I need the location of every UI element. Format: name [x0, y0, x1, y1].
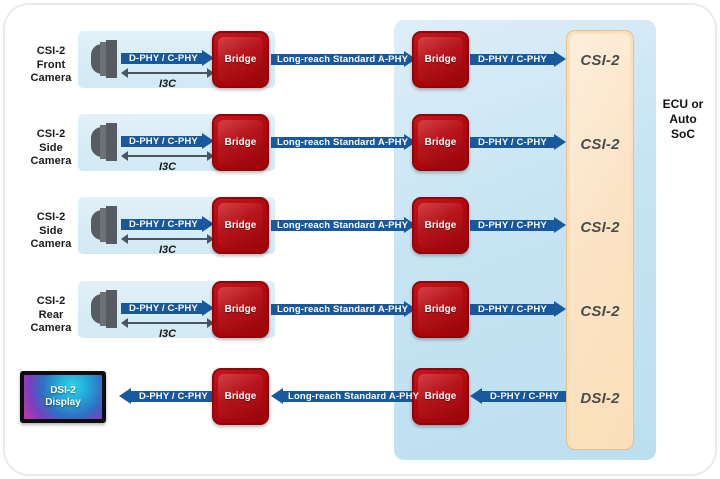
bridge-near-1[interactable]: Bridge: [212, 31, 269, 88]
soc-port-2: CSI-2: [566, 136, 634, 153]
link-soc-1-label: D-PHY / C-PHY: [478, 54, 547, 65]
bridge-far-3[interactable]: Bridge: [412, 197, 469, 254]
camera-icon-4: [91, 290, 117, 328]
link-soc-2-label: D-PHY / C-PHY: [478, 137, 547, 148]
link-aphy-3-label: Long-reach Standard A-PHY: [277, 220, 408, 231]
display-label-line1: DSI-2: [50, 385, 76, 396]
bridge-near-1-label: Bridge: [225, 54, 257, 65]
camera-icon-2: [91, 123, 117, 161]
soc-port-3: CSI-2: [566, 219, 634, 236]
camera-body-shape: [106, 123, 117, 161]
link-soc-1: D-PHY / C-PHY: [470, 51, 566, 68]
soc-interface-column-inner: [570, 34, 630, 446]
link-dphy-cphy-4-label: D-PHY / C-PHY: [129, 303, 198, 314]
bridge-far-1-label: Bridge: [425, 54, 457, 65]
ecu-label-line1: ECU or: [650, 97, 716, 112]
camera-label-1-line1: CSI-2: [18, 45, 84, 59]
soc-interface-column: [566, 30, 634, 450]
camera-label-1-line3: Camera: [18, 72, 84, 86]
camera-label-4-line3: Camera: [18, 322, 84, 336]
camera-label-4-line2: Rear: [18, 309, 84, 323]
link-dphy-cphy-1-label: D-PHY / C-PHY: [129, 53, 198, 64]
camera-label-1-line2: Front: [18, 59, 84, 73]
camera-label-3-line3: Camera: [18, 238, 84, 252]
bridge-far-2[interactable]: Bridge: [412, 114, 469, 171]
camera-icon-1: [91, 40, 117, 78]
link-dphy-cphy-2: D-PHY / C-PHY: [121, 133, 214, 150]
link-aphy-2-label: Long-reach Standard A-PHY: [277, 137, 408, 148]
camera-label-2-line2: Side: [18, 142, 84, 156]
camera-label-2: CSI-2 Side Camera: [18, 128, 84, 169]
bridge-near-2[interactable]: Bridge: [212, 114, 269, 171]
camera-label-1: CSI-2 Front Camera: [18, 45, 84, 86]
bridge-near-3-label: Bridge: [225, 220, 257, 231]
link-aphy-4: Long-reach Standard A-PHY: [271, 301, 416, 318]
display-icon: DSI-2Display: [20, 371, 106, 423]
camera-label-2-line1: CSI-2: [18, 128, 84, 142]
link-dphy-cphy-display-label: D-PHY / C-PHY: [139, 391, 208, 402]
camera-label-3: CSI-2 Side Camera: [18, 211, 84, 252]
ecu-auto-soc-label: ECU or Auto SoC: [650, 97, 716, 142]
camera-body-shape: [106, 290, 117, 328]
link-soc-2: D-PHY / C-PHY: [470, 134, 566, 151]
diagram-canvas: CSI-2 Front Camera D-PHY / C-PHY I3C Bri…: [0, 0, 720, 479]
bridge-far-2-label: Bridge: [425, 137, 457, 148]
ecu-label-line2: Auto: [650, 112, 716, 127]
bridge-far-4-label: Bridge: [425, 304, 457, 315]
display-label-line2: Display: [45, 397, 81, 408]
link-i3c-4-label: I3C: [121, 328, 214, 340]
link-soc-3-label: D-PHY / C-PHY: [478, 220, 547, 231]
camera-label-3-line1: CSI-2: [18, 211, 84, 225]
link-soc-3: D-PHY / C-PHY: [470, 217, 566, 234]
link-aphy-1: Long-reach Standard A-PHY: [271, 51, 416, 68]
link-aphy-1-label: Long-reach Standard A-PHY: [277, 54, 408, 65]
link-i3c-3-label: I3C: [121, 244, 214, 256]
bridge-near-display[interactable]: Bridge: [212, 368, 269, 425]
link-aphy-3: Long-reach Standard A-PHY: [271, 217, 416, 234]
bridge-near-display-label: Bridge: [225, 391, 257, 402]
camera-label-2-line3: Camera: [18, 155, 84, 169]
link-aphy-4-label: Long-reach Standard A-PHY: [277, 304, 408, 315]
bridge-near-3[interactable]: Bridge: [212, 197, 269, 254]
bridge-far-display-label: Bridge: [425, 391, 457, 402]
link-dphy-cphy-3-label: D-PHY / C-PHY: [129, 219, 198, 230]
bridge-far-3-label: Bridge: [425, 220, 457, 231]
soc-port-5: DSI-2: [566, 390, 634, 407]
link-i3c-1-label: I3C: [121, 78, 214, 90]
camera-icon-3: [91, 206, 117, 244]
camera-label-3-line2: Side: [18, 225, 84, 239]
camera-label-4: CSI-2 Rear Camera: [18, 295, 84, 336]
bridge-far-1[interactable]: Bridge: [412, 31, 469, 88]
bridge-far-display[interactable]: Bridge: [412, 368, 469, 425]
link-soc-display: D-PHY / C-PHY: [470, 388, 566, 405]
link-i3c-2-label: I3C: [121, 161, 214, 173]
display-screen: DSI-2Display: [24, 375, 102, 419]
link-soc-display-label: D-PHY / C-PHY: [490, 391, 559, 402]
link-dphy-cphy-2-label: D-PHY / C-PHY: [129, 136, 198, 147]
link-dphy-cphy-3: D-PHY / C-PHY: [121, 216, 214, 233]
bridge-far-4[interactable]: Bridge: [412, 281, 469, 338]
link-dphy-cphy-1: D-PHY / C-PHY: [121, 50, 214, 67]
link-dphy-cphy-4: D-PHY / C-PHY: [121, 300, 214, 317]
ecu-label-line3: SoC: [650, 127, 716, 142]
link-aphy-display-label: Long-reach Standard A-PHY: [288, 391, 419, 402]
link-aphy-2: Long-reach Standard A-PHY: [271, 134, 416, 151]
camera-body-shape: [106, 206, 117, 244]
camera-body-shape: [106, 40, 117, 78]
bridge-near-4-label: Bridge: [225, 304, 257, 315]
link-aphy-display: Long-reach Standard A-PHY: [271, 388, 416, 405]
bridge-near-4[interactable]: Bridge: [212, 281, 269, 338]
display-label: DSI-2Display: [45, 385, 81, 409]
soc-port-1: CSI-2: [566, 52, 634, 69]
camera-label-4-line1: CSI-2: [18, 295, 84, 309]
link-dphy-cphy-display: D-PHY / C-PHY: [119, 388, 215, 405]
bridge-near-2-label: Bridge: [225, 137, 257, 148]
link-soc-4-label: D-PHY / C-PHY: [478, 304, 547, 315]
link-soc-4: D-PHY / C-PHY: [470, 301, 566, 318]
soc-port-4: CSI-2: [566, 303, 634, 320]
